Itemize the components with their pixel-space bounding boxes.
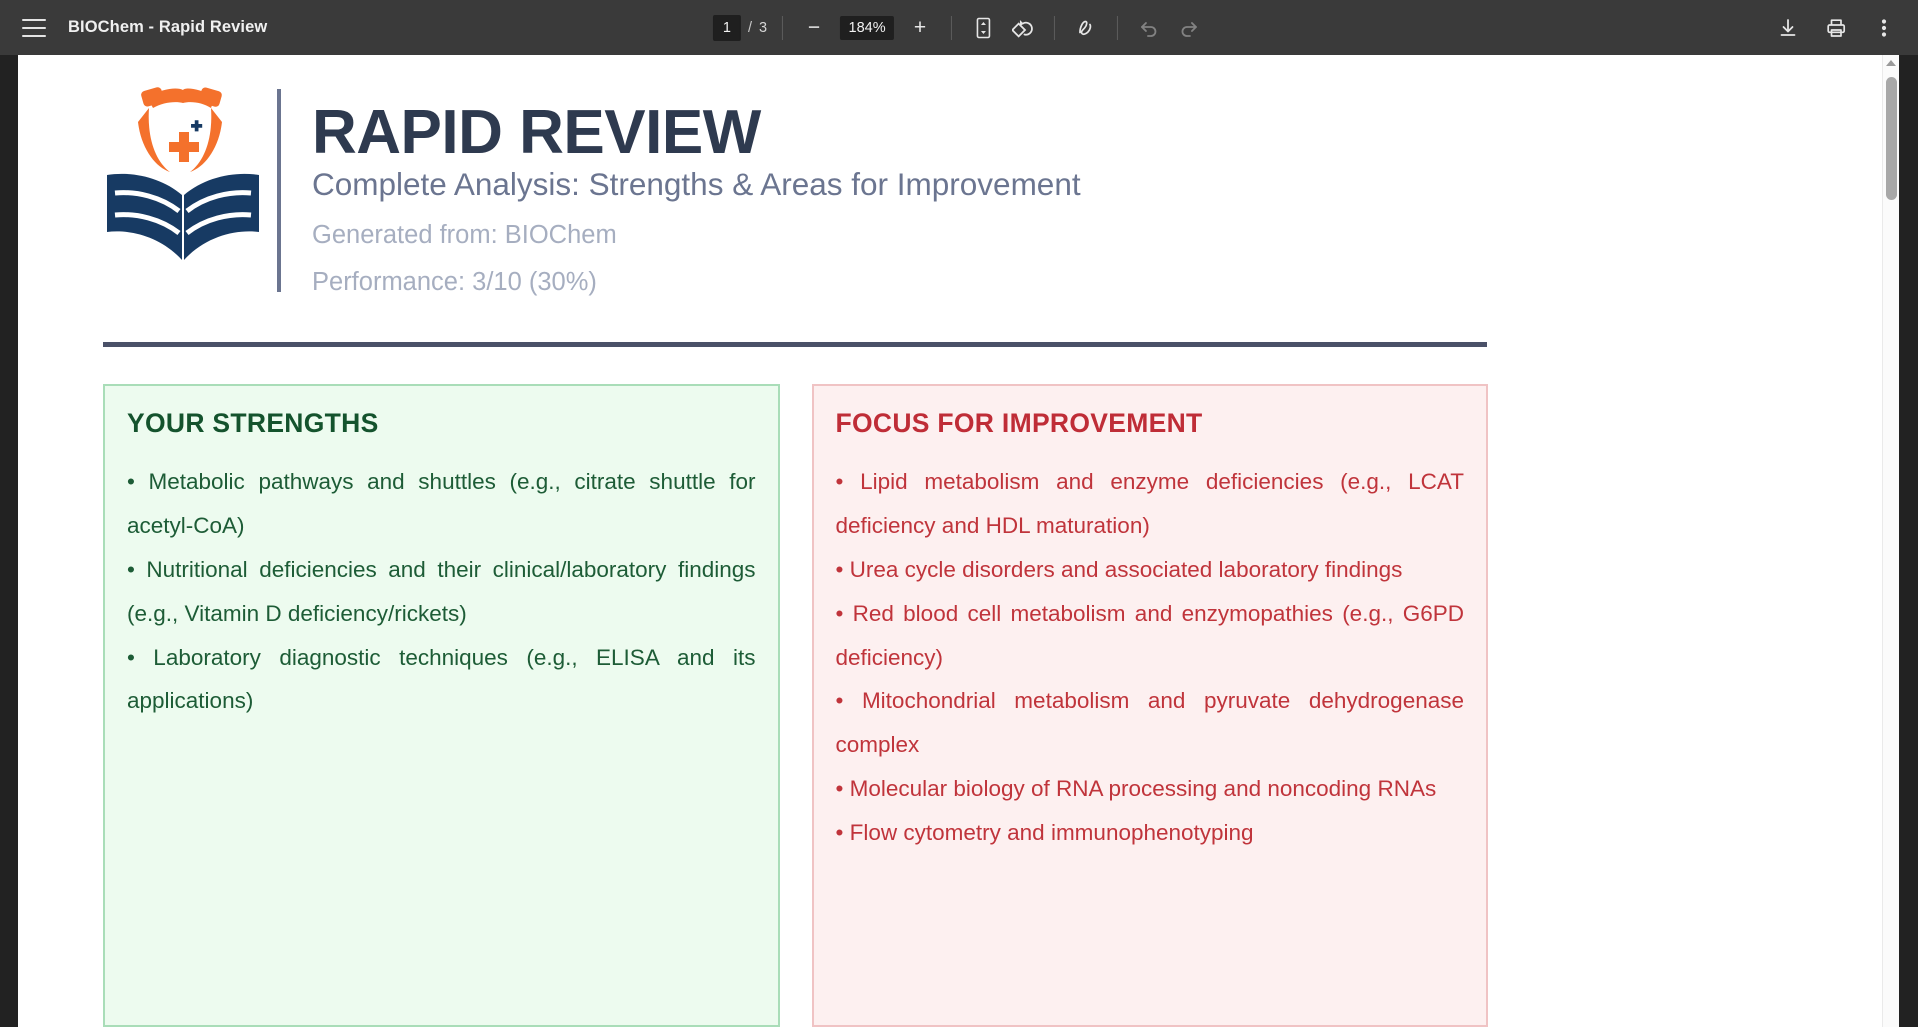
toolbar-divider <box>782 16 783 40</box>
strengths-panel-title: YOUR STRENGTHS <box>127 408 756 439</box>
plus-icon: + <box>914 17 926 38</box>
page-navigation: / 3 <box>713 15 767 41</box>
page-number-input[interactable] <box>713 15 741 41</box>
document-title: BIOChem - Rapid Review <box>68 18 267 37</box>
redo-icon <box>1178 18 1200 38</box>
scrollbar-thumb[interactable] <box>1886 77 1897 200</box>
scroll-up-arrow-icon[interactable] <box>1886 60 1896 66</box>
toolbar-center-group: / 3 − 184% + <box>713 12 1205 44</box>
list-item: • Lipid metabolism and enzyme deficienci… <box>836 460 1465 548</box>
list-item: • Molecular biology of RNA processing an… <box>836 767 1465 811</box>
performance-label: Performance: 3/10 (30%) <box>312 268 1081 296</box>
list-item: • Flow cytometry and immunophenotyping <box>836 811 1465 855</box>
history-tools <box>1133 12 1205 44</box>
toolbar-divider <box>1054 16 1055 40</box>
undo-icon <box>1138 18 1160 38</box>
toolbar-divider <box>1117 16 1118 40</box>
improvement-panel: FOCUS FOR IMPROVEMENT • Lipid metabolism… <box>812 384 1489 1027</box>
view-tools <box>967 12 1039 44</box>
page-total-count: 3 <box>759 20 767 36</box>
header-divider-rule <box>103 342 1487 347</box>
rotate-counterclockwise-icon <box>1012 17 1035 39</box>
report-title: RAPID REVIEW <box>312 103 1081 163</box>
header-text-block: RAPID REVIEW Complete Analysis: Strength… <box>281 75 1081 296</box>
redo-button[interactable] <box>1173 12 1205 44</box>
zoom-out-button[interactable]: − <box>798 12 830 44</box>
fit-to-page-icon <box>974 17 993 39</box>
generated-from-label: Generated from: BIOChem <box>312 221 1081 249</box>
list-item: • Metabolic pathways and shuttles (e.g.,… <box>127 460 756 548</box>
annotation-tools <box>1070 12 1102 44</box>
pdf-viewer: RAPID REVIEW Complete Analysis: Strength… <box>0 55 1918 1027</box>
vertical-scrollbar[interactable] <box>1882 55 1899 1027</box>
medical-book-stethoscope-logo <box>103 75 263 260</box>
more-options-icon <box>1881 17 1887 39</box>
zoom-level-value[interactable]: 184% <box>840 16 894 40</box>
more-options-button[interactable] <box>1868 12 1900 44</box>
zoom-controls: − 184% + <box>798 12 936 44</box>
print-button[interactable] <box>1820 12 1852 44</box>
report-header: RAPID REVIEW Complete Analysis: Strength… <box>103 75 1081 296</box>
list-item: • Laboratory diagnostic techniques (e.g.… <box>127 636 756 724</box>
minus-icon: − <box>808 17 820 38</box>
undo-button[interactable] <box>1133 12 1165 44</box>
zoom-in-button[interactable]: + <box>904 12 936 44</box>
toolbar-left-group: BIOChem - Rapid Review <box>0 18 267 37</box>
list-item: • Red blood cell metabolism and enzymopa… <box>836 592 1465 680</box>
pdf-toolbar: BIOChem - Rapid Review / 3 − 184% + <box>0 0 1918 55</box>
fit-to-page-button[interactable] <box>967 12 999 44</box>
hamburger-menu-icon[interactable] <box>22 19 46 37</box>
list-item: • Nutritional deficiencies and their cli… <box>127 548 756 636</box>
print-icon <box>1825 17 1848 39</box>
report-subtitle: Complete Analysis: Strengths & Areas for… <box>312 167 1081 202</box>
list-item: • Mitochondrial metabolism and pyruvate … <box>836 679 1465 767</box>
draw-annotation-button[interactable] <box>1070 12 1102 44</box>
ink-annotation-icon <box>1074 16 1098 40</box>
pdf-page: RAPID REVIEW Complete Analysis: Strength… <box>18 55 1899 1027</box>
download-icon <box>1777 17 1799 39</box>
page-separator: / <box>748 20 752 36</box>
improvement-panel-title: FOCUS FOR IMPROVEMENT <box>836 408 1465 439</box>
report-panels: YOUR STRENGTHS • Metabolic pathways and … <box>103 384 1488 1027</box>
toolbar-right-group <box>1772 12 1900 44</box>
rotate-button[interactable] <box>1007 12 1039 44</box>
strengths-panel: YOUR STRENGTHS • Metabolic pathways and … <box>103 384 780 1027</box>
download-button[interactable] <box>1772 12 1804 44</box>
toolbar-divider <box>951 16 952 40</box>
list-item: • Urea cycle disorders and associated la… <box>836 548 1465 592</box>
